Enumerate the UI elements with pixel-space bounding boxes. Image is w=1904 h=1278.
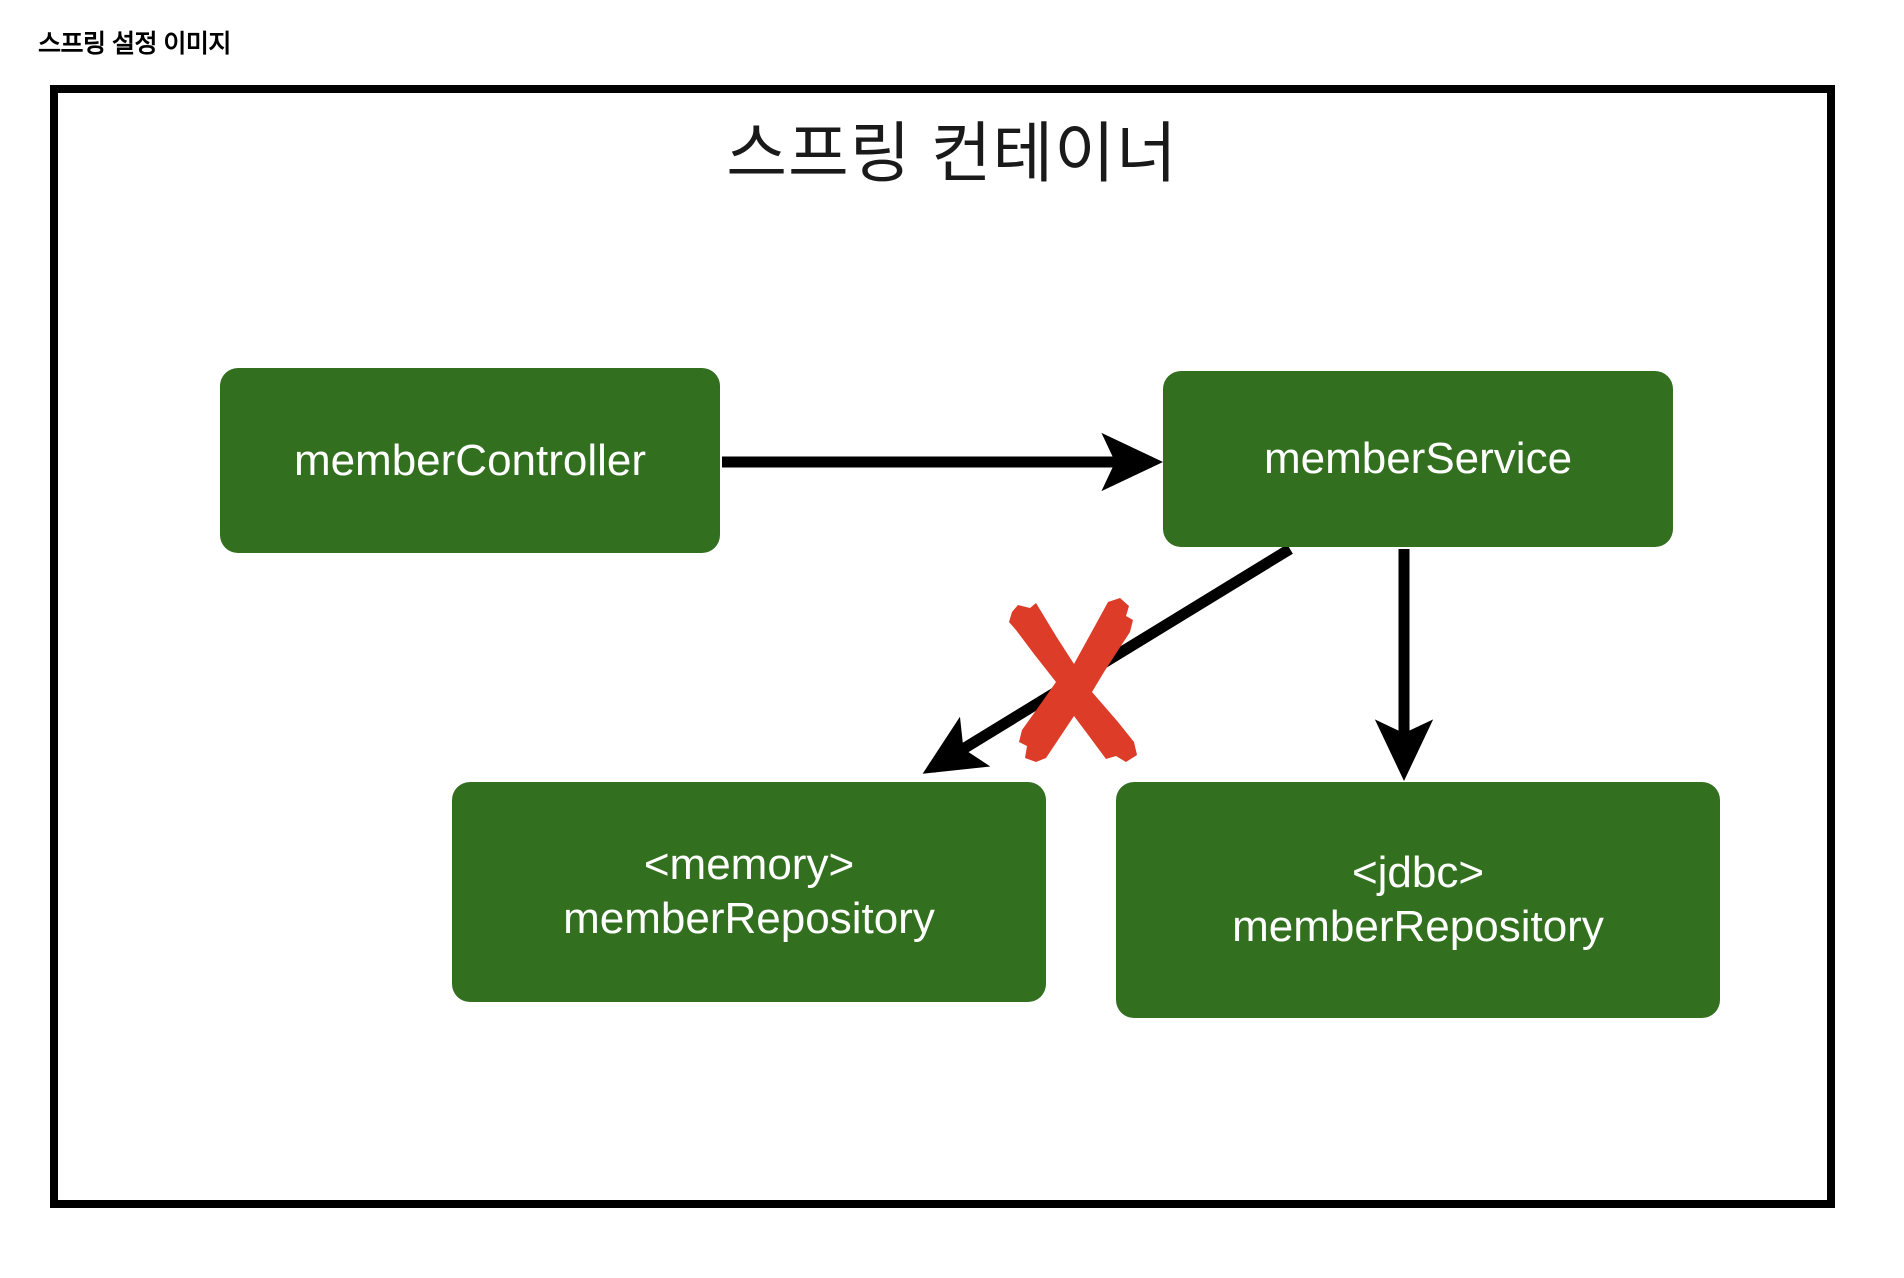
bean-jdbc-member-repository[interactable]: <jdbc> memberRepository [1116, 782, 1720, 1018]
bean-label-line1: <jdbc> [1232, 846, 1604, 900]
bean-memory-member-repository[interactable]: <memory> memberRepository [452, 782, 1046, 1002]
bean-label-line2: memberRepository [563, 892, 935, 946]
bean-label-line1: memberService [1264, 432, 1572, 486]
bean-label-line1: <memory> [563, 838, 935, 892]
bean-member-controller[interactable]: memberController [220, 368, 720, 553]
bean-label-line1: memberController [294, 434, 646, 488]
diagram-canvas: 스프링 설정 이미지 스프링 컨테이너 memberController [0, 0, 1904, 1278]
spring-container-title: 스프링 컨테이너 [0, 100, 1904, 196]
bean-member-service[interactable]: memberService [1163, 371, 1673, 547]
spring-container-frame [50, 85, 1835, 1208]
bean-label-line2: memberRepository [1232, 900, 1604, 954]
cross-out-mark-icon [1000, 592, 1150, 764]
page-caption: 스프링 설정 이미지 [38, 24, 231, 60]
